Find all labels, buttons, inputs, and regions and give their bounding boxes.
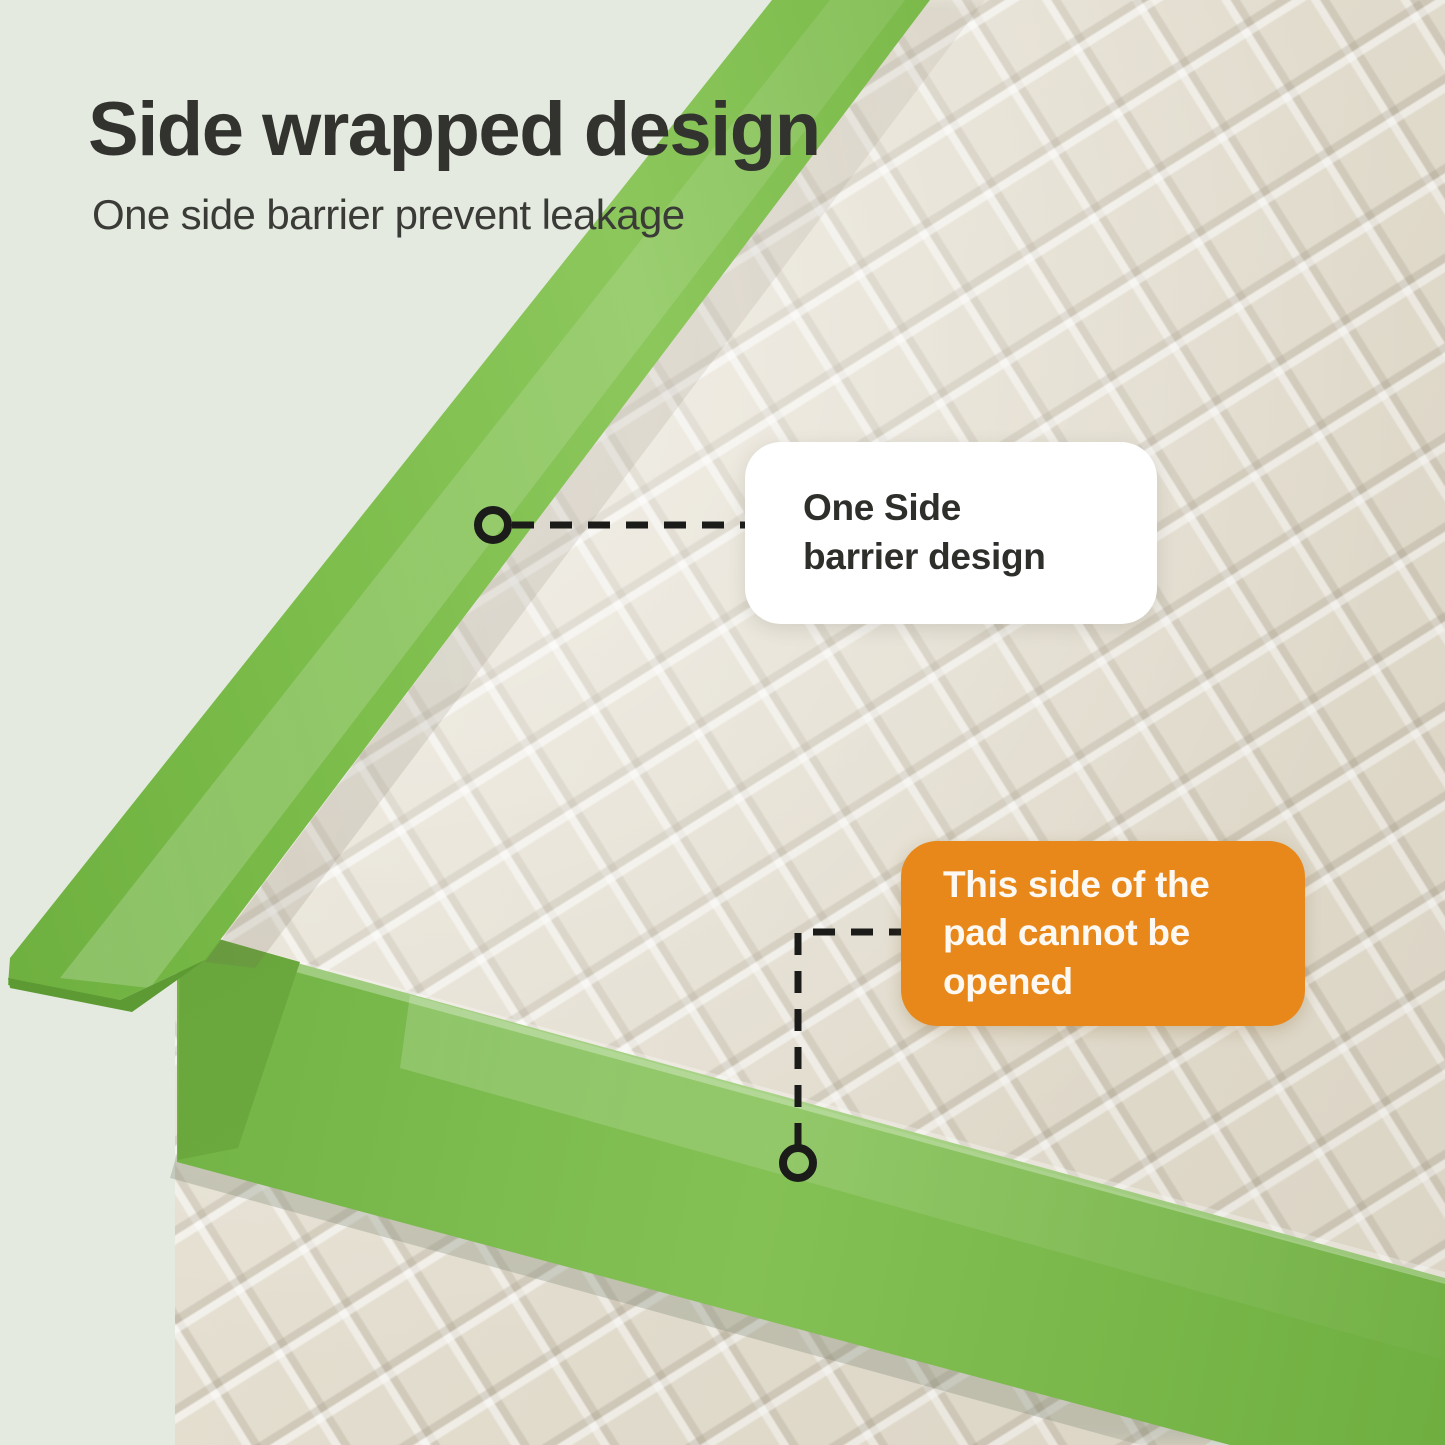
- page-title: Side wrapped design: [88, 92, 1148, 168]
- callout-cannot-be-opened: This side of the pad cannot be opened: [901, 841, 1305, 1026]
- callout-one-side-barrier-label: One Side barrier design: [803, 484, 1046, 582]
- callout-cannot-be-opened-label: This side of the pad cannot be opened: [943, 861, 1210, 1005]
- heading-block: Side wrapped design One side barrier pre…: [88, 92, 1148, 236]
- leader-marker-one-side-barrier: [478, 510, 508, 540]
- leader-line-cannot-be-opened: [798, 932, 901, 1145]
- callout-one-side-barrier: One Side barrier design: [745, 442, 1157, 624]
- page-subtitle: One side barrier prevent leakage: [92, 194, 1148, 236]
- leader-marker-cannot-be-opened: [783, 1148, 813, 1178]
- infographic-canvas: Side wrapped design One side barrier pre…: [0, 0, 1445, 1445]
